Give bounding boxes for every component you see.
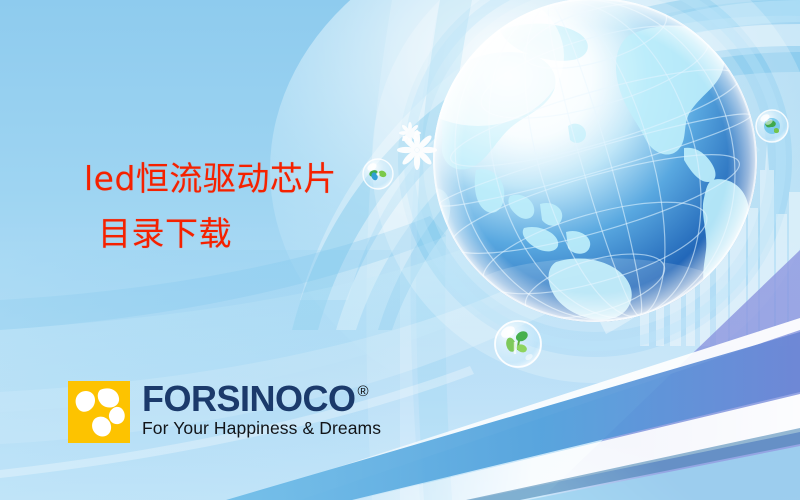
wordmark-text: FORSINOCO — [142, 382, 356, 417]
headline-text: led恒流驱动芯片 目录下载 — [84, 162, 337, 250]
logo-tagline: For Your Happiness & Dreams — [142, 419, 381, 438]
snowflake-small — [399, 122, 421, 144]
forsinoco-logo: FORSINOCO ® For Your Happiness & Dreams — [68, 381, 381, 443]
headline-line-1: led恒流驱动芯片 — [84, 162, 337, 195]
forsinoco-pinwheel-mark — [68, 381, 130, 443]
wordmark: FORSINOCO ® — [142, 382, 381, 417]
city-skyline-silhouette — [600, 142, 800, 346]
headline-line-2: 目录下载 — [98, 217, 337, 250]
registered-trademark-symbol: ® — [358, 384, 369, 399]
logo-text-block: FORSINOCO ® For Your Happiness & Dreams — [142, 381, 381, 438]
left-ribbons — [366, 0, 472, 500]
arc-ribbons — [292, 0, 800, 330]
led-driver-catalog-banner: led恒流驱动芯片 目录下载 FORSINOCO ® F — [0, 0, 800, 500]
continents — [430, 13, 749, 334]
bubble-leaf-sprout — [495, 321, 541, 367]
pinwheel-icon — [68, 381, 130, 443]
globe-grid — [418, 0, 773, 354]
bubble-globe-tiny — [756, 110, 788, 142]
snowflake-large — [397, 130, 437, 170]
bubble-pinwheel-small — [363, 159, 393, 189]
